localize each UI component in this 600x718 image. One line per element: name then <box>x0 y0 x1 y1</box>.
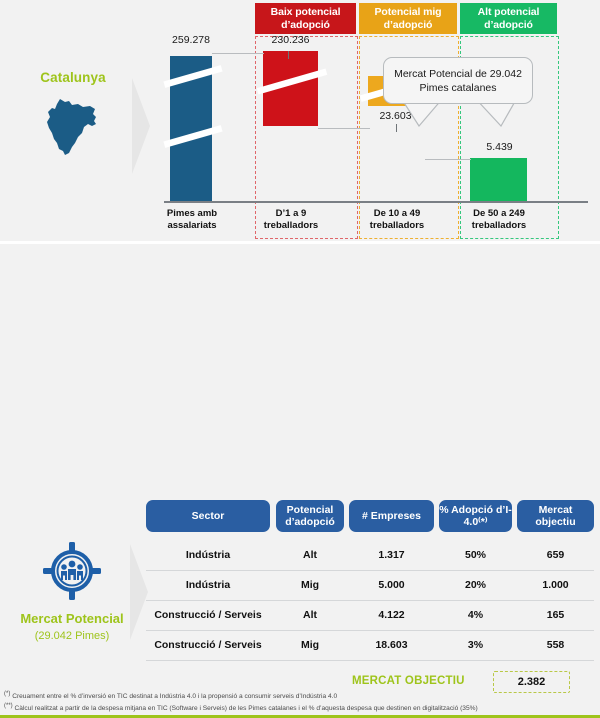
chart-baseline <box>164 201 588 203</box>
cell-adopcio: 3% <box>439 630 512 660</box>
bar-d1-a-9 <box>263 51 318 126</box>
cell-sector: Construcció / Serveis <box>146 600 270 630</box>
catalunya-label: Catalunya <box>8 70 138 85</box>
table-row: Indústria Mig 5.000 20% 1.000 <box>146 570 594 600</box>
cell-potencial: Mig <box>276 570 344 600</box>
bar-tick-d1a9 <box>288 51 289 59</box>
cell-adopcio: 20% <box>439 570 512 600</box>
xlabel-d1-a-9: D’1 a 9 treballadors <box>256 208 326 231</box>
cell-empreses: 1.317 <box>349 540 434 570</box>
mercat-potencial-title: Mercat Potencial <box>6 611 138 626</box>
mercat-potencial-rail: Mercat Potencial (29.042 Pimes) <box>6 540 138 642</box>
bar-value-de-50-a-249: 5.439 <box>462 141 537 153</box>
cell-adopcio: 4% <box>439 600 512 630</box>
footnotes: (*) Creuament entre el % d’inversió en T… <box>4 690 598 713</box>
cell-adopcio: 50% <box>439 540 512 570</box>
connector-2-3 <box>318 128 370 129</box>
cell-mercat: 558 <box>517 630 594 660</box>
cell-potencial: Mig <box>276 630 344 660</box>
chip-baix-potencial: Baix potencial d’adopció <box>255 3 356 34</box>
xlabel-de-10-a-49: De 10 a 49 treballadors <box>361 208 433 231</box>
table-row: Indústria Alt 1.317 50% 659 <box>146 540 594 570</box>
connector-1-2 <box>212 53 264 54</box>
cell-empreses: 5.000 <box>349 570 434 600</box>
callout-text: Mercat Potencial de 29.042 Pimes catalan… <box>384 67 532 95</box>
cell-potencial: Alt <box>276 540 344 570</box>
mercat-potencial-subtitle: (29.042 Pimes) <box>6 630 138 642</box>
chip-alt-label: Alt potencial d’adopció <box>460 6 557 31</box>
chip-mig-label: Potencial mig d’adopció <box>359 6 457 31</box>
connector-3-4 <box>425 159 471 160</box>
footnote-1: (*) Creuament entre el % d’inversió en T… <box>4 690 598 702</box>
slide-root: Baix potencial d’adopció Potencial mig d… <box>0 0 600 474</box>
table-row: Construcció / Serveis Alt 4.122 4% 165 <box>146 600 594 630</box>
chip-baix-label: Baix potencial d’adopció <box>255 6 356 31</box>
target-people-icon <box>41 540 103 602</box>
catalonia-map-icon <box>38 93 108 163</box>
xlabel-pimes: Pimes amb assalariats <box>157 208 227 231</box>
cell-mercat: 165 <box>517 600 594 630</box>
cell-mercat: 1.000 <box>517 570 594 600</box>
column-header-adopcio: % Adopció d’I-4.0⁽*⁾ <box>439 500 512 532</box>
table-header-row: Sector Potencial d’adopció # Empreses % … <box>146 500 594 532</box>
chip-potencial-mig: Potencial mig d’adopció <box>359 3 457 34</box>
bar-pimes-amb-assalariats <box>170 56 212 201</box>
cell-empreses: 18.603 <box>349 630 434 660</box>
cell-empreses: 4.122 <box>349 600 434 630</box>
cell-sector: Indústria <box>146 570 270 600</box>
total-label: MERCAT OBJECTIU <box>352 675 465 687</box>
column-header-potencial: Potencial d’adopció <box>276 500 344 532</box>
column-header-empreses: # Empreses <box>349 500 434 532</box>
top-panel: Baix potencial d’adopció Potencial mig d… <box>0 0 600 241</box>
cell-sector: Construcció / Serveis <box>146 630 270 660</box>
footnote-2: (**) Càlcul realitzat a partir de la des… <box>4 702 598 714</box>
cell-potencial: Alt <box>276 600 344 630</box>
footnote-2-text: Càlcul realitzat a partir de la despesa … <box>15 705 478 712</box>
bar-de-50-a-249 <box>470 158 527 201</box>
cell-sector: Indústria <box>146 540 270 570</box>
footnote-1-text: Creuament entre el % d’inversió en TIC d… <box>12 693 337 700</box>
catalunya-rail: Catalunya <box>8 70 138 163</box>
row-divider <box>146 660 594 661</box>
cell-mercat: 659 <box>517 540 594 570</box>
column-header-sector: Sector <box>146 500 270 532</box>
callout-mercat-potencial: Mercat Potencial de 29.042 Pimes catalan… <box>383 57 533 104</box>
chevron-right-icon-top <box>130 78 152 174</box>
bar-value-d1-a-9: 230.236 <box>253 34 328 46</box>
table-row: Construcció / Serveis Mig 18.603 3% 558 <box>146 630 594 660</box>
chip-alt-potencial: Alt potencial d’adopció <box>460 3 557 34</box>
mercat-potencial-table: Sector Potencial d’adopció # Empreses % … <box>146 500 594 660</box>
bar-value-pimes: 259.278 <box>156 34 226 46</box>
bottom-panel: Mercat Potencial (29.042 Pimes) Sector P… <box>0 244 600 474</box>
xlabel-de-50-a-249: De 50 a 249 treballadors <box>462 208 536 231</box>
total-value: 2.382 <box>518 676 546 688</box>
column-header-mercat: Mercat objectiu <box>517 500 594 532</box>
